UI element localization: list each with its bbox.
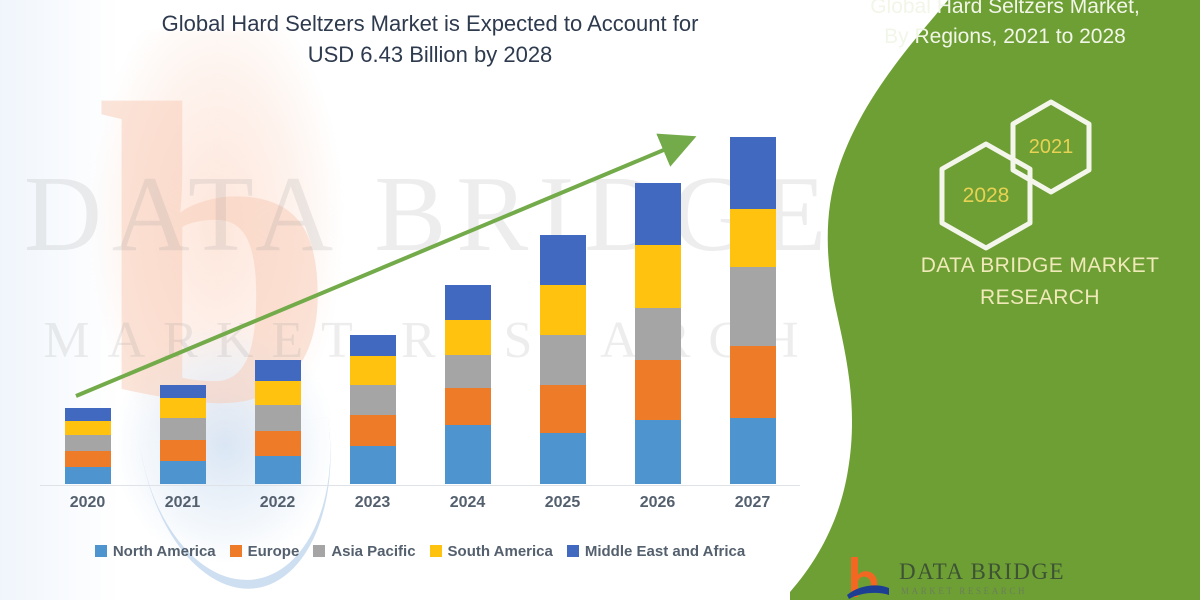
bar-segment	[255, 431, 301, 456]
legend-swatch-icon	[95, 545, 107, 557]
bar-segment	[730, 418, 776, 484]
legend-swatch-icon	[313, 545, 325, 557]
bar-segment	[730, 137, 776, 209]
x-axis-label-2023: 2023	[338, 494, 408, 512]
x-axis-label-2021: 2021	[148, 494, 218, 512]
x-axis-label-2025: 2025	[528, 494, 598, 512]
hexagon-badge-2021: 2021	[1008, 98, 1094, 196]
chart-title-line-1: Global Hard Seltzers Market is Expected …	[60, 8, 800, 39]
bar-segment	[255, 381, 301, 405]
legend-swatch-icon	[567, 545, 579, 557]
x-axis-labels: 20202021202220232024202520262027	[40, 494, 800, 520]
bar-segment	[255, 405, 301, 431]
logo-tagline: MARKET RESEARCH	[901, 586, 1027, 596]
panel-title-line-1: Global Hard Seltzers Market,	[810, 0, 1200, 22]
bar-segment	[635, 308, 681, 360]
legend-label: Asia Pacific	[331, 543, 415, 560]
bar-segment	[65, 421, 111, 435]
bar-segment	[255, 360, 301, 381]
legend-label: South America	[448, 543, 553, 560]
logo-mark-icon	[845, 555, 889, 599]
bar-segment	[730, 209, 776, 267]
bar-segment	[540, 433, 586, 484]
bar-segment	[635, 360, 681, 420]
chart-title-line-2: USD 6.43 Billion by 2028	[60, 39, 800, 70]
bar-2022	[255, 360, 301, 484]
plot-area	[40, 110, 800, 486]
bar-segment	[350, 415, 396, 446]
bar-2024	[445, 285, 491, 484]
bar-segment	[160, 385, 206, 398]
bar-segment	[160, 398, 206, 418]
bar-2026	[635, 183, 681, 484]
bar-segment	[540, 385, 586, 433]
infographic-canvas: b DATA BRIDGE MARKET RESEARCH Global Har…	[0, 0, 1200, 600]
legend-item[interactable]: Asia Pacific	[313, 543, 415, 560]
legend-swatch-icon	[430, 545, 442, 557]
bar-2020	[65, 408, 111, 484]
legend-swatch-icon	[230, 545, 242, 557]
page-title: Global Hard Seltzers Market is Expected …	[60, 8, 800, 70]
bar-2021	[160, 385, 206, 484]
legend-label: Middle East and Africa	[585, 543, 745, 560]
bar-segment	[160, 461, 206, 484]
bar-2025	[540, 235, 586, 484]
chart-legend: North AmericaEuropeAsia PacificSouth Ame…	[40, 538, 800, 564]
bar-group	[40, 110, 800, 484]
bar-segment	[160, 418, 206, 440]
bar-segment	[65, 467, 111, 484]
bar-segment	[635, 245, 681, 308]
legend-item[interactable]: North America	[95, 543, 216, 560]
bar-segment	[350, 385, 396, 415]
hexagon-label-2028: 2028	[963, 184, 1010, 208]
hexagon-label-2021: 2021	[1029, 136, 1074, 159]
bar-segment	[445, 320, 491, 355]
x-axis-label-2020: 2020	[53, 494, 123, 512]
x-axis-line	[40, 485, 800, 486]
brand-name: DATA BRIDGE MARKET RESEARCH	[880, 250, 1200, 314]
bar-segment	[160, 440, 206, 461]
bar-segment	[445, 388, 491, 425]
bar-segment	[540, 335, 586, 385]
chart-panel: b DATA BRIDGE MARKET RESEARCH Global Har…	[0, 0, 860, 600]
company-logo: DATA BRIDGE MARKET RESEARCH	[845, 555, 1145, 600]
bar-segment	[445, 425, 491, 484]
brand-line-2: RESEARCH	[880, 282, 1200, 314]
bar-2027	[730, 137, 776, 484]
legend-item[interactable]: Europe	[230, 543, 300, 560]
bar-segment	[635, 420, 681, 484]
x-axis-label-2027: 2027	[718, 494, 788, 512]
legend-label: Europe	[248, 543, 300, 560]
legend-item[interactable]: Middle East and Africa	[567, 543, 745, 560]
bar-segment	[65, 435, 111, 451]
bar-segment	[350, 446, 396, 484]
bar-segment	[65, 408, 111, 421]
brand-line-1: DATA BRIDGE MARKET	[880, 250, 1200, 282]
bar-segment	[730, 346, 776, 418]
logo-text: DATA BRIDGE	[899, 559, 1065, 585]
x-axis-label-2024: 2024	[433, 494, 503, 512]
panel-title: Global Hard Seltzers Market, By Regions,…	[810, 0, 1200, 52]
legend-label: North America	[113, 543, 216, 560]
legend-item[interactable]: South America	[430, 543, 553, 560]
bar-segment	[65, 451, 111, 467]
x-axis-label-2026: 2026	[623, 494, 693, 512]
bar-segment	[445, 355, 491, 388]
bar-segment	[255, 456, 301, 484]
bar-segment	[445, 285, 491, 320]
bar-2023	[350, 335, 396, 484]
bar-segment	[730, 267, 776, 346]
bar-segment	[540, 235, 586, 285]
panel-title-line-2: By Regions, 2021 to 2028	[810, 22, 1200, 52]
bar-segment	[350, 335, 396, 356]
bar-segment	[540, 285, 586, 335]
bar-segment	[350, 356, 396, 385]
bar-segment	[635, 183, 681, 245]
x-axis-label-2022: 2022	[243, 494, 313, 512]
